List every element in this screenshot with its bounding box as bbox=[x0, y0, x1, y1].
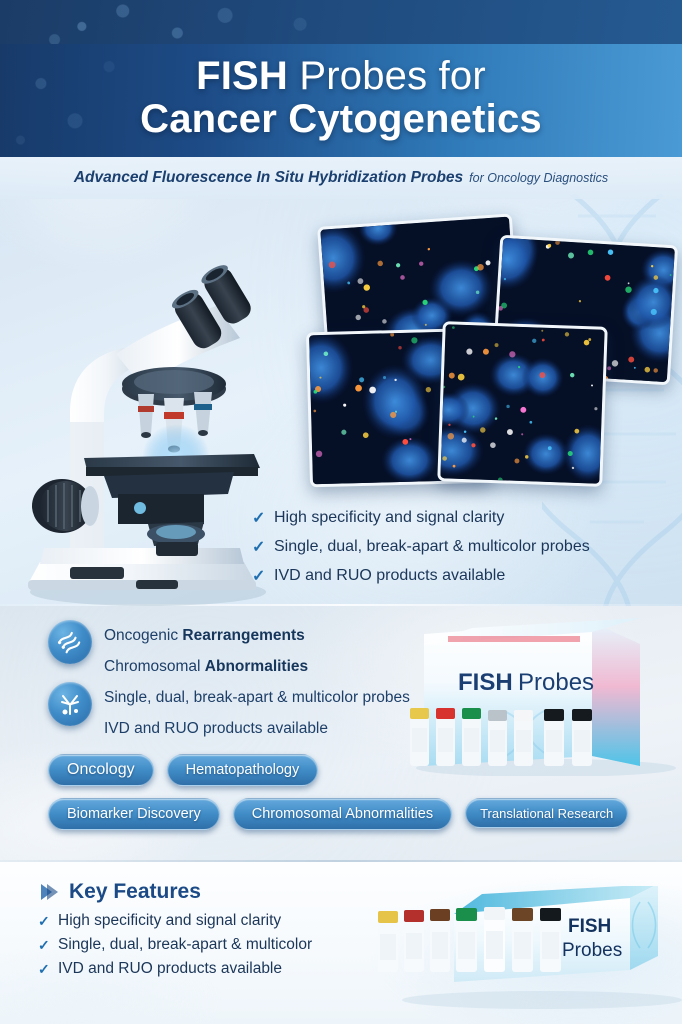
feature-text: Oncogenic Rearrangements bbox=[104, 627, 305, 645]
micrograph-card bbox=[437, 321, 607, 487]
list-item: ✓ IVD and RUO products available bbox=[252, 566, 672, 586]
poster-root: FISH Probes for Cancer Cytogenetics Adva… bbox=[0, 0, 682, 1024]
product-brand-bold: FISH bbox=[458, 669, 513, 696]
product-brand-bold: FISH bbox=[568, 916, 611, 937]
list-item: ✓ High specificity and signal clarity bbox=[252, 508, 672, 528]
title-line1-rest: Probes for bbox=[288, 54, 486, 98]
check-icon: ✓ bbox=[38, 961, 58, 978]
feature-text: IVD and RUO products available bbox=[104, 720, 328, 738]
product-brand-rest: Probes bbox=[518, 669, 594, 696]
key-features-title: Key Features bbox=[69, 880, 201, 904]
chromosome-split-icon bbox=[48, 682, 92, 726]
feature-prefix: Chromosomal bbox=[104, 658, 205, 675]
bullet-text: High specificity and signal clarity bbox=[58, 912, 281, 930]
application-tag-group: Oncology Hematopathology Biomarker Disco… bbox=[48, 754, 648, 842]
subtitle-tail: for Oncology Diagnostics bbox=[469, 171, 608, 185]
page-title: FISH Probes for Cancer Cytogenetics bbox=[0, 44, 682, 141]
tag-chromosomal-abnormalities[interactable]: Chromosomal Abnormalities bbox=[233, 798, 452, 830]
top-texture-strip bbox=[0, 0, 682, 44]
bullet-text: IVD and RUO products available bbox=[274, 567, 505, 585]
microscope-icon bbox=[8, 262, 276, 610]
title-line2: Cancer Cytogenetics bbox=[0, 98, 682, 141]
tag-translational-research[interactable]: Translational Research bbox=[465, 798, 628, 828]
hero-bullet-list: ✓ High specificity and signal clarity ✓ … bbox=[252, 508, 672, 595]
feature-strong: Abnormalities bbox=[205, 658, 308, 675]
product-brand-rest: Probes bbox=[562, 940, 622, 961]
feature-text: Chromosomal Abnormalities bbox=[104, 658, 308, 676]
feature-prefix: Oncogenic bbox=[104, 627, 182, 644]
list-item: ✓ Single, dual, break-apart & multicolor… bbox=[252, 537, 672, 557]
check-icon: ✓ bbox=[38, 913, 58, 930]
check-icon: ✓ bbox=[252, 566, 274, 586]
tag-biomarker-discovery[interactable]: Biomarker Discovery bbox=[48, 798, 220, 830]
bullet-text: Single, dual, break-apart & multicolor p… bbox=[274, 538, 590, 556]
feature-prefix: Single, dual, break-apart & multicolor p… bbox=[104, 689, 410, 706]
bullet-text: Single, dual, break-apart & multicolor bbox=[58, 936, 312, 954]
subtitle-bar: Advanced Fluorescence In Situ Hybridizat… bbox=[0, 157, 682, 199]
tag-hematopathology[interactable]: Hematopathology bbox=[167, 754, 319, 786]
product-box-middle: FISH Probes bbox=[396, 616, 682, 776]
header-band: FISH Probes for Cancer Cytogenetics bbox=[0, 44, 682, 157]
subtitle-main: Advanced Fluorescence In Situ Hybridizat… bbox=[74, 169, 463, 187]
feature-strong: Rearrangements bbox=[182, 627, 304, 644]
product-box-bottom: FISH Probes bbox=[372, 886, 682, 1014]
feature-prefix: IVD and RUO products available bbox=[104, 720, 328, 737]
check-icon: ✓ bbox=[38, 937, 58, 954]
dna-strand-icon bbox=[48, 620, 92, 664]
pill-row-2: Biomarker Discovery Chromosomal Abnormal… bbox=[48, 798, 648, 830]
fish-micrograph-gallery bbox=[300, 212, 682, 502]
bullet-text: IVD and RUO products available bbox=[58, 960, 282, 978]
double-chevron-icon bbox=[38, 881, 60, 903]
tag-oncology[interactable]: Oncology bbox=[48, 754, 154, 786]
check-icon: ✓ bbox=[252, 537, 274, 557]
title-fish-word: FISH bbox=[196, 54, 288, 98]
check-icon: ✓ bbox=[252, 508, 274, 528]
pill-row-1: Oncology Hematopathology bbox=[48, 754, 648, 786]
feature-text: Single, dual, break-apart & multicolor p… bbox=[104, 689, 410, 707]
bullet-text: High specificity and signal clarity bbox=[274, 509, 504, 527]
